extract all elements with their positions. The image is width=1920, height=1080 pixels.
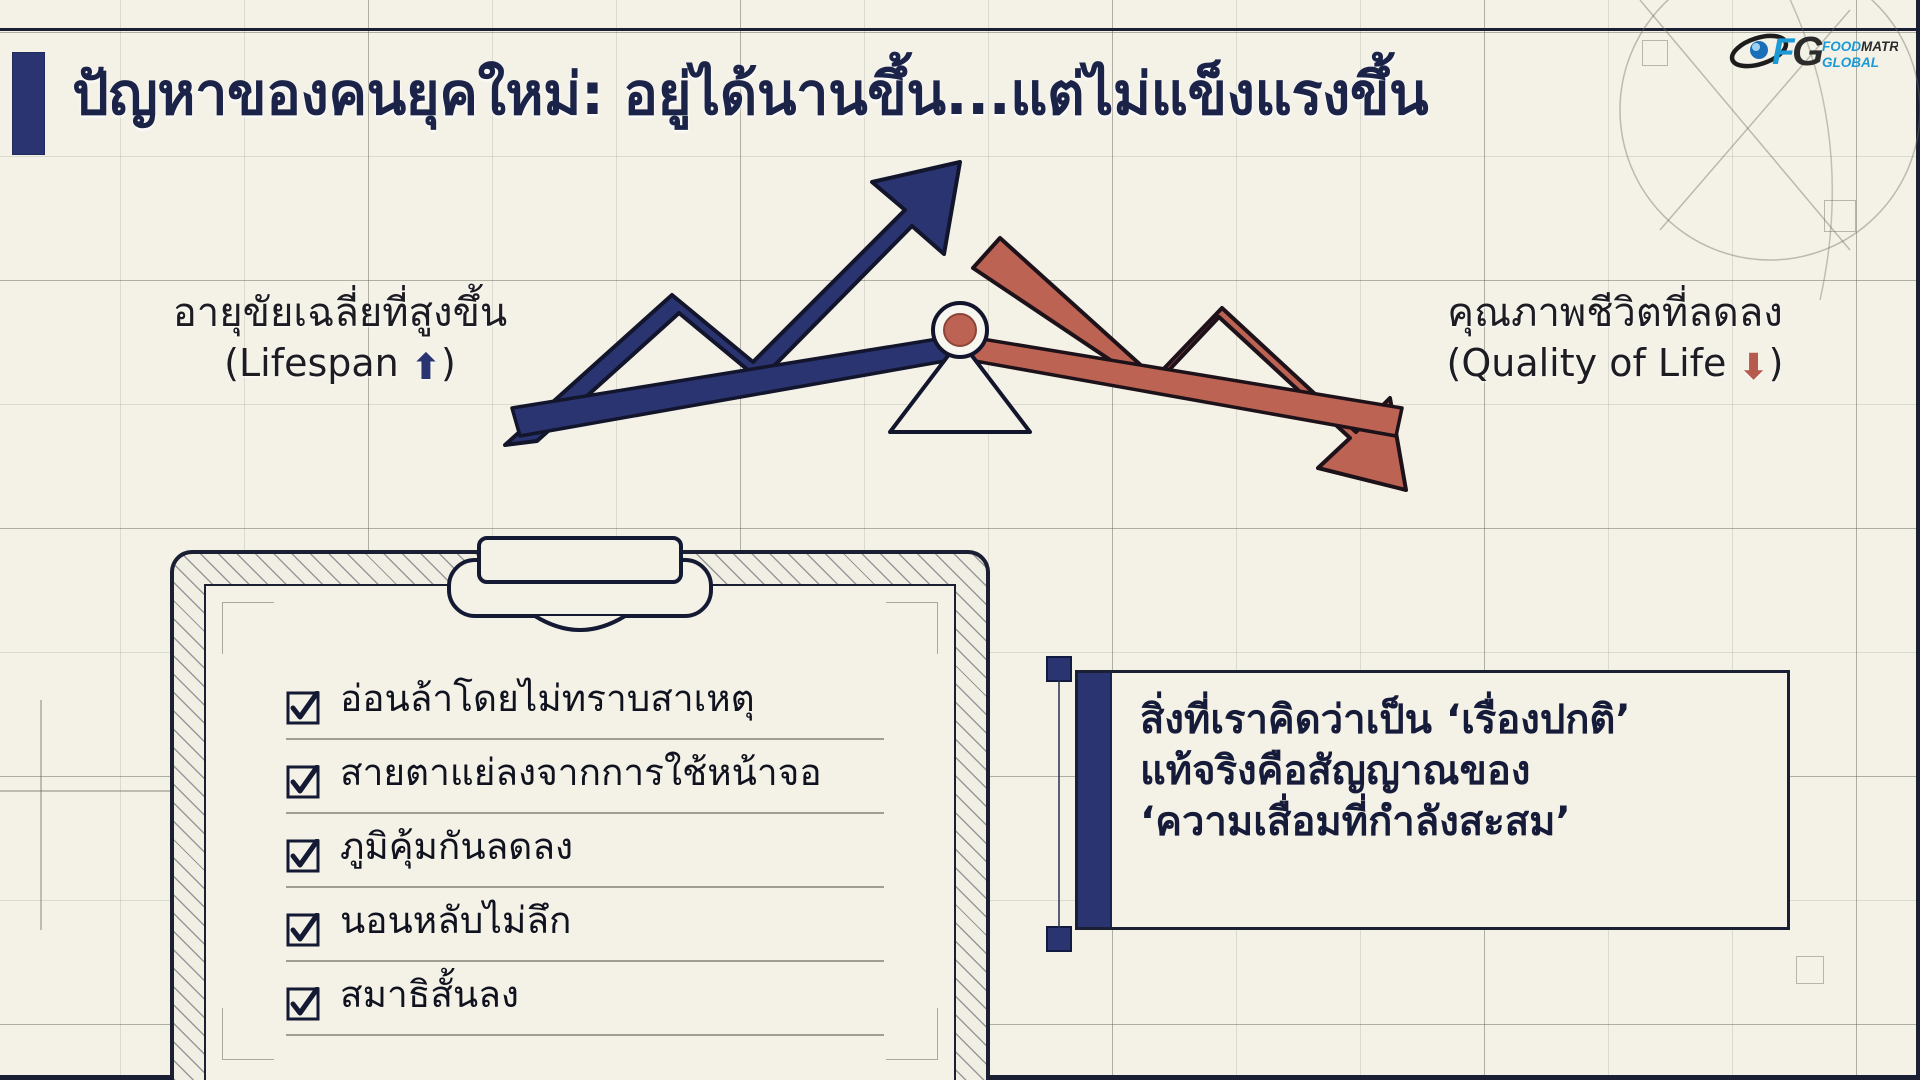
arrow-up-icon: ⬆ [411, 347, 441, 389]
callout-line-1: สิ่งที่เราคิดว่าเป็น ‘เรื่องปกติ’ [1140, 695, 1765, 746]
checked-box-icon[interactable] [286, 987, 320, 1021]
callout-line-2: แท้จริงคือสัญญาณของ [1140, 746, 1765, 797]
slide-root: ปัญหาของคนยุคใหม่: อยู่ได้นานขึ้น...แต่ไ… [0, 0, 1920, 1080]
quality-of-life-label-english: (Quality of Life ⬇) [1400, 341, 1830, 389]
arrow-down-icon: ⬇ [1738, 347, 1768, 389]
foodmatrix-global-logo: F G FOODMATRIX GLOBAL [1728, 26, 1898, 78]
callout-marker-connector [1058, 680, 1060, 928]
frame-top-rule [0, 28, 1920, 31]
list-item[interactable]: นอนหลับไม่ลึก [286, 904, 884, 962]
list-item-label: สมาธิสั้นลง [340, 976, 519, 1015]
page-title: ปัญหาของคนยุคใหม่: อยู่ได้นานขึ้น...แต่ไ… [72, 47, 1428, 140]
page-corner-mark-tl [222, 602, 274, 654]
callout-corner-marker-top [1046, 656, 1072, 682]
symptom-clipboard: อ่อนล้าโดยไม่ทราบสาเหตุ สายตาแย่ลงจากการ… [170, 550, 990, 1080]
lifespan-label: อายุขัยเฉลี่ยที่สูงขึ้น (Lifespan ⬆) [130, 290, 550, 390]
page-corner-mark-tr [886, 602, 938, 654]
insight-callout: สิ่งที่เราคิดว่าเป็น ‘เรื่องปกติ’ แท้จริ… [1075, 670, 1790, 930]
decoration-square-br [1796, 956, 1824, 984]
list-item-label: สายตาแย่ลงจากการใช้หน้าจอ [340, 754, 822, 793]
list-item[interactable]: สายตาแย่ลงจากการใช้หน้าจอ [286, 756, 884, 814]
callout-line-3: ‘ความเสื่อมที่กำลังสะสม’ [1140, 797, 1765, 848]
svg-text:G: G [1792, 28, 1824, 74]
title-accent-bar [12, 52, 45, 155]
page-corner-mark-bl [222, 1008, 274, 1060]
clipboard-page: อ่อนล้าโดยไม่ทราบสาเหตุ สายตาแย่ลงจากการ… [204, 584, 956, 1080]
list-item-label: นอนหลับไม่ลึก [340, 902, 571, 941]
decoration-square-tr [1642, 40, 1668, 66]
list-item-label: อ่อนล้าโดยไม่ทราบสาเหตุ [340, 680, 755, 719]
decoration-line-bl [0, 790, 170, 792]
quality-of-life-label-thai: คุณภาพชีวิตที่ลดลง [1400, 290, 1830, 337]
svg-text:GLOBAL: GLOBAL [1822, 55, 1879, 70]
list-item[interactable]: สมาธิสั้นลง [286, 978, 884, 1036]
list-item[interactable]: ภูมิคุ้มกันลดลง [286, 830, 884, 888]
svg-text:FOODMATRIX: FOODMATRIX [1822, 39, 1898, 54]
lifespan-label-thai: อายุขัยเฉลี่ยที่สูงขึ้น [130, 290, 550, 337]
checked-box-icon[interactable] [286, 765, 320, 799]
symptom-checklist: อ่อนล้าโดยไม่ทราบสาเหตุ สายตาแย่ลงจากการ… [286, 682, 884, 1036]
callout-accent-bar [1078, 673, 1112, 927]
checked-box-icon[interactable] [286, 691, 320, 725]
checked-box-icon[interactable] [286, 913, 320, 947]
checked-box-icon[interactable] [286, 839, 320, 873]
lifespan-label-english: (Lifespan ⬆) [130, 341, 550, 389]
list-item-label: ภูมิคุ้มกันลดลง [340, 828, 573, 867]
callout-text: สิ่งที่เราคิดว่าเป็น ‘เรื่องปกติ’ แท้จริ… [1140, 695, 1765, 849]
callout-corner-marker-bottom [1046, 926, 1072, 952]
page-corner-mark-br [886, 1008, 938, 1060]
list-item[interactable]: อ่อนล้าโดยไม่ทราบสาเหตุ [286, 682, 884, 740]
decoration-line-bl2 [40, 700, 42, 930]
quality-of-life-label: คุณภาพชีวิตที่ลดลง (Quality of Life ⬇) [1400, 290, 1830, 390]
clipboard-clip-icon [435, 536, 725, 632]
